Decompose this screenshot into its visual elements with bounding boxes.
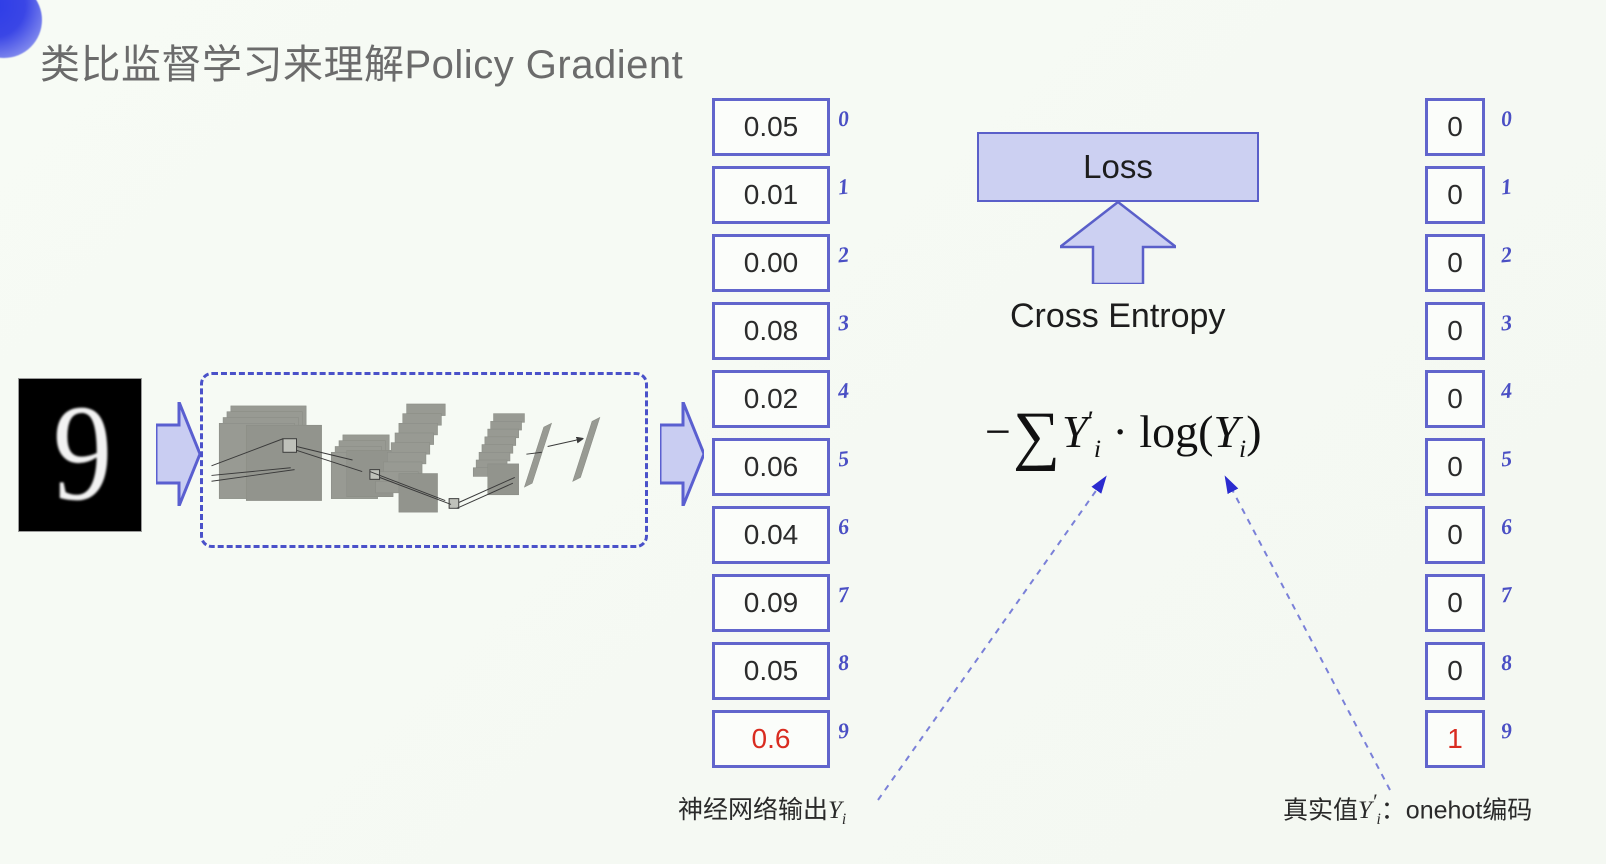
output-caption-symbol-sub: i: [842, 811, 846, 828]
output-class-index: 5: [837, 445, 851, 472]
output-probability-cell: 0.08: [712, 302, 830, 360]
target-onehot-cell: 0: [1425, 302, 1485, 360]
formula-y: Y: [1213, 406, 1239, 457]
output-class-index: 6: [837, 513, 851, 540]
cross-entropy-formula: −∑Y′i · log(Yi): [985, 398, 1262, 474]
target-onehot-cell: 1: [1425, 710, 1485, 768]
output-caption-text: 神经网络输出: [678, 796, 828, 824]
target-class-index: 7: [1500, 581, 1514, 608]
formula-dot: ·: [1113, 406, 1128, 457]
target-onehot-cell: 0: [1425, 506, 1485, 564]
target-caption-symbol: Y: [1358, 797, 1372, 824]
target-caption-prefix: 真实值: [1283, 796, 1358, 824]
target-vector-caption: 真实值Y′i：onehot编码: [1283, 790, 1532, 829]
output-probability-cell: 0.05: [712, 642, 830, 700]
target-class-index: 9: [1500, 717, 1514, 744]
output-class-index: 4: [837, 377, 851, 404]
decorative-circle: [0, 0, 42, 58]
target-onehot-cell: 0: [1425, 642, 1485, 700]
formula-y-prime-sub: i: [1094, 434, 1101, 463]
output-class-index: 3: [837, 309, 851, 336]
target-class-index: 4: [1500, 377, 1514, 404]
target-onehot-cell: 0: [1425, 166, 1485, 224]
target-onehot-cell: 0: [1425, 370, 1485, 428]
page-title: 类比监督学习来理解Policy Gradient: [40, 32, 683, 90]
formula-minus: −: [985, 406, 1011, 457]
output-vector-caption: 神经网络输出Yi: [678, 790, 846, 829]
loss-box: Loss: [977, 132, 1259, 202]
target-class-index: 8: [1500, 649, 1514, 676]
cnn-architecture-illustration: [203, 375, 645, 545]
formula-sum-symbol: ∑: [1011, 399, 1062, 472]
target-class-index: 5: [1500, 445, 1514, 472]
output-probability-cell: 0.6: [712, 710, 830, 768]
target-caption-suffix: ：onehot编码: [1381, 796, 1532, 824]
output-probability-cell: 0.04: [712, 506, 830, 564]
input-to-network-arrow-outline: [156, 402, 200, 506]
mnist-digit-glyph: 9: [30, 379, 135, 531]
target-class-index: 2: [1500, 241, 1514, 268]
formula-y-prime: Y: [1062, 406, 1088, 457]
target-class-index: 3: [1500, 309, 1514, 336]
target-onehot-cell: 0: [1425, 98, 1485, 156]
target-class-index: 0: [1500, 105, 1514, 132]
output-probability-cell: 0.06: [712, 438, 830, 496]
target-onehot-cell: 0: [1425, 574, 1485, 632]
target-onehot-cell: 0: [1425, 234, 1485, 292]
output-class-index: 9: [837, 717, 851, 744]
target-onehot-cell: 0: [1425, 438, 1485, 496]
output-probability-cell: 0.01: [712, 166, 830, 224]
formula-prime-mark: ′: [1088, 407, 1094, 438]
loss-up-arrow-outline: [1060, 202, 1176, 284]
slide-canvas: 类比监督学习来理解Policy Gradient 9: [0, 0, 1606, 864]
output-class-index: 7: [837, 581, 851, 608]
output-class-index: 2: [837, 241, 851, 268]
output-probability-cell: 0.02: [712, 370, 830, 428]
leader-target-to-formula: [1226, 478, 1390, 790]
target-class-index: 1: [1500, 173, 1514, 200]
cnn-container: [200, 372, 648, 548]
network-to-output-arrow-outline: [660, 402, 704, 506]
cross-entropy-label: Cross Entropy: [1010, 297, 1225, 336]
formula-log: log(: [1139, 406, 1213, 457]
output-class-index: 1: [837, 173, 851, 200]
formula-close-paren: ): [1246, 406, 1261, 457]
output-class-index: 8: [837, 649, 851, 676]
output-caption-symbol: Y: [828, 797, 842, 824]
output-class-index: 0: [837, 105, 851, 132]
leader-output-to-formula: [878, 478, 1105, 800]
output-probability-cell: 0.00: [712, 234, 830, 292]
output-probability-cell: 0.09: [712, 574, 830, 632]
output-probability-cell: 0.05: [712, 98, 830, 156]
mnist-input-image: 9: [18, 378, 142, 532]
target-class-index: 6: [1500, 513, 1514, 540]
